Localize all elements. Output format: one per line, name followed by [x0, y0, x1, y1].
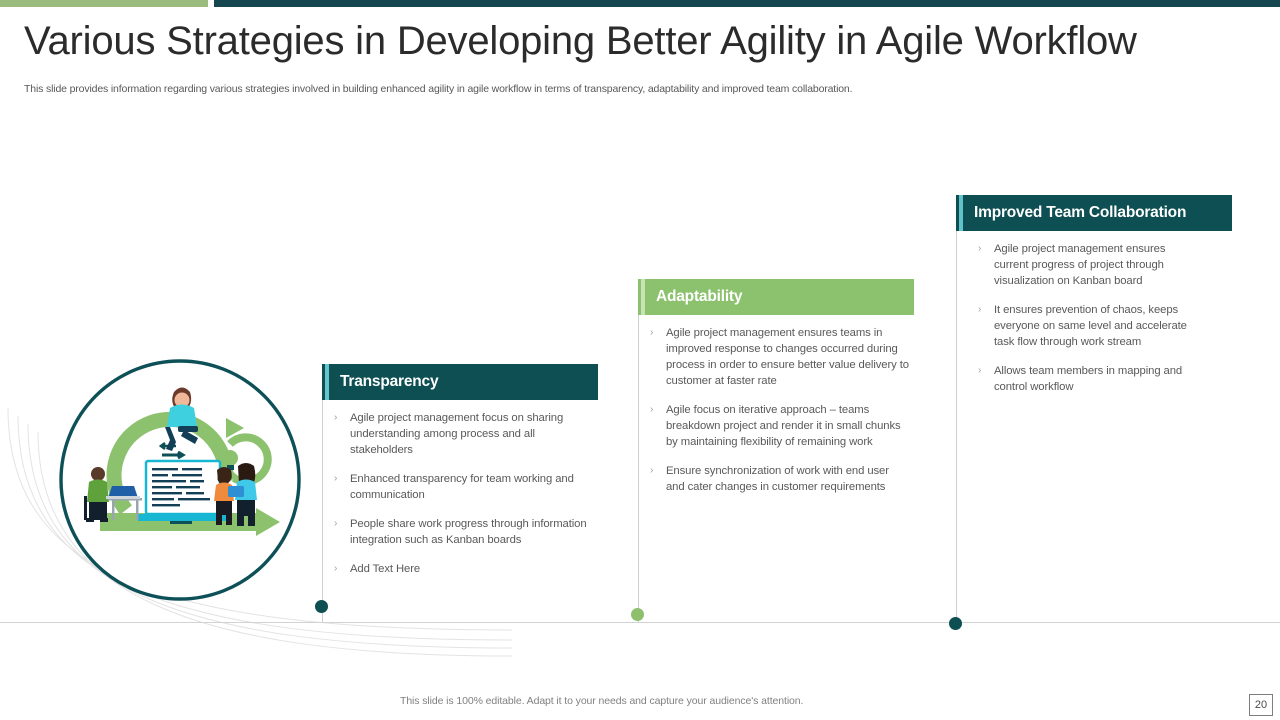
list-item-text: Ensure synchronization of work with end …: [666, 463, 910, 495]
top-accent-bar-teal: [214, 0, 1280, 7]
card-collaboration-header: Improved Team Collaboration: [956, 195, 1232, 231]
card-collaboration-body: › Agile project management ensures curre…: [956, 231, 1232, 395]
page-number-badge: 20: [1249, 694, 1273, 716]
list-item-text: Agile project management ensures current…: [994, 241, 1202, 289]
chevron-right-icon: ›: [648, 325, 666, 389]
card-adaptability-header: Adaptability: [638, 279, 914, 315]
footer-note: This slide is 100% editable. Adapt it to…: [400, 695, 1020, 707]
list-item: › Ensure synchronization of work with en…: [648, 463, 910, 495]
card-adaptability-body: › Agile project management ensures teams…: [638, 315, 914, 495]
list-item: › People share work progress through inf…: [332, 516, 594, 548]
list-item-text: Enhanced transparency for team working a…: [350, 471, 594, 503]
top-accent-bar-green: [0, 0, 208, 7]
agile-workflow-illustration: [58, 358, 302, 602]
card-adaptability-title: Adaptability: [656, 288, 742, 306]
list-item-text: People share work progress through infor…: [350, 516, 594, 548]
list-item-placeholder-text[interactable]: Add Text Here: [350, 561, 594, 577]
chevron-right-icon: ›: [332, 516, 350, 548]
card-improved-team-collaboration[interactable]: Improved Team Collaboration › Agile proj…: [956, 195, 1232, 408]
card-transparency[interactable]: Transparency › Agile project management …: [322, 364, 598, 590]
list-item: › Agile focus on iterative approach – te…: [648, 402, 910, 450]
card-transparency-header: Transparency: [322, 364, 598, 400]
card-accent-stripe: [959, 195, 963, 231]
card-transparency-title: Transparency: [340, 373, 438, 391]
list-item-text: Allows team members in mapping and contr…: [994, 363, 1202, 395]
card-transparency-body: › Agile project management focus on shar…: [322, 400, 598, 577]
chevron-right-icon: ›: [976, 363, 994, 395]
connector-dot-adaptability: [631, 608, 644, 621]
page-title: Various Strategies in Developing Better …: [24, 16, 1244, 66]
list-item[interactable]: › Add Text Here: [332, 561, 594, 577]
connector-baseline: [0, 622, 1280, 623]
slide-canvas: Various Strategies in Developing Better …: [0, 0, 1280, 720]
list-item-text: Agile project management ensures teams i…: [666, 325, 910, 389]
chevron-right-icon: ›: [648, 463, 666, 495]
list-item: › It ensures prevention of chaos, keeps …: [976, 302, 1202, 350]
list-item: › Enhanced transparency for team working…: [332, 471, 594, 503]
list-item: › Agile project management ensures curre…: [976, 241, 1202, 289]
connector-dot-transparency: [315, 600, 328, 613]
card-collaboration-title: Improved Team Collaboration: [974, 204, 1186, 222]
card-adaptability[interactable]: Adaptability › Agile project management …: [638, 279, 914, 508]
page-subtitle: This slide provides information regardin…: [24, 82, 1204, 96]
list-item: › Agile project management ensures teams…: [648, 325, 910, 389]
chevron-right-icon: ›: [332, 410, 350, 458]
chevron-right-icon: ›: [976, 241, 994, 289]
list-item: › Allows team members in mapping and con…: [976, 363, 1202, 395]
chevron-right-icon: ›: [648, 402, 666, 450]
chevron-right-icon: ›: [332, 471, 350, 503]
connector-dot-collaboration: [949, 617, 962, 630]
chevron-right-icon: ›: [332, 561, 350, 577]
list-item-text: Agile focus on iterative approach – team…: [666, 402, 910, 450]
card-accent-stripe: [325, 364, 329, 400]
list-item-text: It ensures prevention of chaos, keeps ev…: [994, 302, 1202, 350]
list-item: › Agile project management focus on shar…: [332, 410, 594, 458]
card-accent-stripe: [641, 279, 645, 315]
chevron-right-icon: ›: [976, 302, 994, 350]
list-item-text: Agile project management focus on sharin…: [350, 410, 594, 458]
